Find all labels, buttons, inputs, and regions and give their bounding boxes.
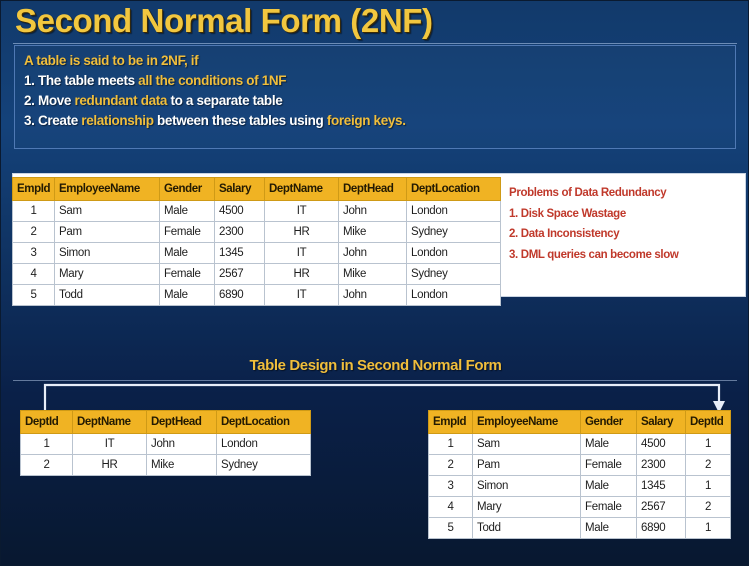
table-row: 1 IT John London (21, 434, 311, 455)
table-row: 2 HR Mike Sydney (21, 455, 311, 476)
column-header-deptlocation: DeptLocation (217, 411, 311, 434)
cell-gender: Male (160, 285, 215, 306)
cell-deptname: HR (265, 222, 339, 243)
table-row: 1 Sam Male 4500 IT John London (13, 201, 501, 222)
cell-depthead: Mike (147, 455, 217, 476)
table-row: 5 Todd Male 6890 IT John London (13, 285, 501, 306)
cell-empid: 5 (13, 285, 55, 306)
cell-deptid: 1 (686, 434, 731, 455)
rule-1-text-a: The table meets (38, 73, 138, 88)
slide-canvas: Second Normal Form (2NF) A table is said… (0, 0, 749, 566)
cell-deptname: IT (265, 243, 339, 264)
definition-lead: A table is said to be in 2NF, if (24, 51, 735, 71)
column-header-empid: EmpId (429, 411, 473, 434)
design-section-divider (13, 380, 737, 381)
cell-salary: 2567 (215, 264, 265, 285)
table-row: 2 Pam Female 2300 HR Mike Sydney (13, 222, 501, 243)
cell-gender: Female (581, 497, 637, 518)
rule-2-text-a: Move (38, 93, 75, 108)
table-row: 5 Todd Male 6890 1 (429, 518, 731, 539)
cell-empid: 3 (13, 243, 55, 264)
cell-depthead: John (339, 201, 407, 222)
cell-empid: 3 (429, 476, 473, 497)
cell-employeename: Simon (55, 243, 160, 264)
column-header-gender: Gender (581, 411, 637, 434)
column-header-deptid: DeptId (686, 411, 731, 434)
cell-gender: Male (160, 243, 215, 264)
cell-gender: Male (581, 434, 637, 455)
normalized-employee-table: EmpId EmployeeName Gender Salary DeptId … (428, 410, 731, 539)
cell-employeename: Mary (55, 264, 160, 285)
table-row: 4 Mary Female 2567 HR Mike Sydney (13, 264, 501, 285)
table-row: 1 Sam Male 4500 1 (429, 434, 731, 455)
rule-3-highlight-2: foreign keys. (327, 113, 406, 128)
cell-deptlocation: Sydney (407, 222, 501, 243)
unnormalized-employee-table: EmpId EmployeeName Gender Salary DeptNam… (12, 177, 501, 306)
cell-salary: 2300 (637, 455, 686, 476)
rule-1-highlight: all the conditions of 1NF (138, 73, 286, 88)
page-title: Second Normal Form (2NF) (15, 2, 433, 40)
cell-deptid: 1 (686, 476, 731, 497)
column-header-depthead: DeptHead (339, 178, 407, 201)
table-header-row: DeptId DeptName DeptHead DeptLocation (21, 411, 311, 434)
rule-3-text-a: Create (38, 113, 81, 128)
cell-deptlocation: London (407, 243, 501, 264)
cell-salary: 4500 (215, 201, 265, 222)
cell-empid: 1 (429, 434, 473, 455)
data-redundancy-problems-panel: Problems of Data Redundancy 1. Disk Spac… (509, 183, 741, 265)
cell-employeename: Pam (55, 222, 160, 243)
cell-empid: 5 (429, 518, 473, 539)
table-header-row: EmpId EmployeeName Gender Salary DeptId (429, 411, 731, 434)
rule-2-highlight: redundant data (74, 93, 167, 108)
table-row: 4 Mary Female 2567 2 (429, 497, 731, 518)
definition-rule-2: 2. Move redundant data to a separate tab… (24, 91, 735, 111)
cell-gender: Male (160, 201, 215, 222)
column-header-salary: Salary (637, 411, 686, 434)
cell-deptname: IT (265, 201, 339, 222)
cell-salary: 4500 (637, 434, 686, 455)
table-header-row: EmpId EmployeeName Gender Salary DeptNam… (13, 178, 501, 201)
cell-employeename: Mary (473, 497, 581, 518)
cell-employeename: Sam (473, 434, 581, 455)
cell-employeename: Simon (473, 476, 581, 497)
definition-box: A table is said to be in 2NF, if 1. The … (14, 45, 736, 149)
cell-depthead: Mike (339, 222, 407, 243)
cell-deptid: 2 (686, 455, 731, 476)
unnormalized-employee-table-container: EmpId EmployeeName Gender Salary DeptNam… (12, 177, 500, 306)
rule-3-number: 3. (24, 113, 35, 128)
redundancy-item-2: 2. Data Inconsistency (509, 224, 741, 245)
cell-deptid: 2 (686, 497, 731, 518)
column-header-employeename: EmployeeName (473, 411, 581, 434)
table-row: 2 Pam Female 2300 2 (429, 455, 731, 476)
cell-salary: 2567 (637, 497, 686, 518)
cell-salary: 1345 (215, 243, 265, 264)
cell-deptlocation: London (217, 434, 311, 455)
cell-depthead: Mike (339, 264, 407, 285)
cell-gender: Male (581, 518, 637, 539)
column-header-deptlocation: DeptLocation (407, 178, 501, 201)
cell-deptlocation: London (407, 201, 501, 222)
cell-empid: 2 (429, 455, 473, 476)
column-header-gender: Gender (160, 178, 215, 201)
column-header-salary: Salary (215, 178, 265, 201)
redundancy-item-3: 3. DML queries can become slow (509, 245, 741, 266)
table-row: 3 Simon Male 1345 1 (429, 476, 731, 497)
column-header-depthead: DeptHead (147, 411, 217, 434)
title-divider (13, 43, 737, 44)
cell-deptlocation: Sydney (217, 455, 311, 476)
cell-employeename: Pam (473, 455, 581, 476)
cell-deptname: IT (265, 285, 339, 306)
cell-salary: 6890 (215, 285, 265, 306)
cell-empid: 4 (13, 264, 55, 285)
rule-3-highlight: relationship (81, 113, 153, 128)
rule-3-text-b: between these tables using (154, 113, 327, 128)
column-header-deptname: DeptName (73, 411, 147, 434)
definition-rule-1: 1. The table meets all the conditions of… (24, 71, 735, 91)
column-header-employeename: EmployeeName (55, 178, 160, 201)
rule-2-text-b: to a separate table (167, 93, 282, 108)
rule-1-number: 1. (24, 73, 35, 88)
cell-gender: Female (581, 455, 637, 476)
cell-salary: 2300 (215, 222, 265, 243)
redundancy-item-1: 1. Disk Space Wastage (509, 204, 741, 225)
cell-gender: Female (160, 222, 215, 243)
cell-gender: Female (160, 264, 215, 285)
cell-empid: 2 (13, 222, 55, 243)
cell-deptname: HR (73, 455, 147, 476)
cell-deptname: IT (73, 434, 147, 455)
column-header-deptid: DeptId (21, 411, 73, 434)
cell-deptlocation: Sydney (407, 264, 501, 285)
cell-employeename: Sam (55, 201, 160, 222)
normalized-employee-table-container: EmpId EmployeeName Gender Salary DeptId … (428, 410, 731, 539)
cell-salary: 1345 (637, 476, 686, 497)
design-section-heading: Table Design in Second Normal Form (1, 357, 749, 374)
cell-deptname: HR (265, 264, 339, 285)
cell-depthead: John (339, 285, 407, 306)
table-row: 3 Simon Male 1345 IT John London (13, 243, 501, 264)
redundancy-heading: Problems of Data Redundancy (509, 183, 741, 204)
cell-deptid: 1 (686, 518, 731, 539)
department-table-container: DeptId DeptName DeptHead DeptLocation 1 … (20, 410, 311, 476)
department-table: DeptId DeptName DeptHead DeptLocation 1 … (20, 410, 311, 476)
cell-deptid: 2 (21, 455, 73, 476)
cell-employeename: Todd (55, 285, 160, 306)
cell-empid: 4 (429, 497, 473, 518)
column-header-deptname: DeptName (265, 178, 339, 201)
cell-deptid: 1 (21, 434, 73, 455)
cell-employeename: Todd (473, 518, 581, 539)
cell-empid: 1 (13, 201, 55, 222)
cell-depthead: John (147, 434, 217, 455)
cell-salary: 6890 (637, 518, 686, 539)
cell-deptlocation: London (407, 285, 501, 306)
cell-gender: Male (581, 476, 637, 497)
rule-2-number: 2. (24, 93, 35, 108)
cell-depthead: John (339, 243, 407, 264)
column-header-empid: EmpId (13, 178, 55, 201)
definition-rule-3: 3. Create relationship between these tab… (24, 111, 735, 131)
